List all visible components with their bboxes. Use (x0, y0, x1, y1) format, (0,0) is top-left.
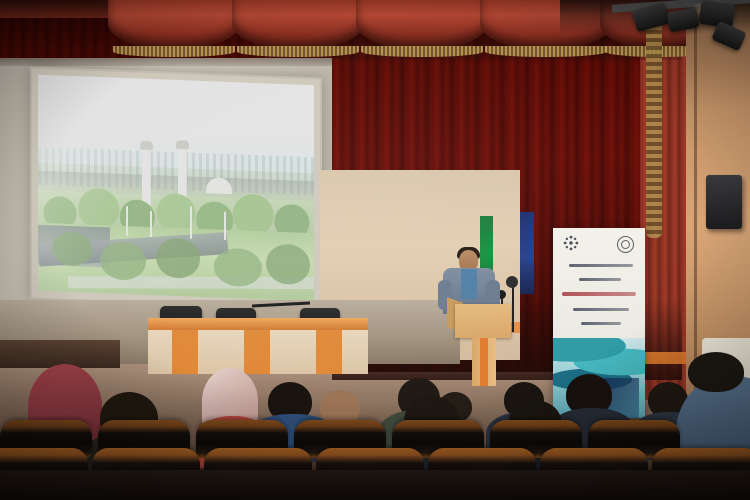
speaker-shirt (461, 269, 477, 299)
auditorium-photo: A speaker stands at a wooden podium on a… (0, 0, 750, 500)
floor-shadow (0, 470, 750, 500)
table-accent-block (316, 330, 342, 374)
banner-text-line (562, 292, 636, 296)
table-accent-block (244, 330, 270, 374)
banner-text-line (569, 264, 633, 267)
flag-blue (520, 212, 534, 294)
star-emblem-logo (563, 235, 579, 251)
banner-text-line (581, 322, 621, 325)
curtain-tassel (646, 18, 662, 238)
wall-mounted-loudspeaker (706, 175, 742, 229)
projection-screen (30, 66, 322, 310)
panel-table-front (148, 330, 368, 374)
attendee-head (688, 352, 744, 392)
banner-text-line (579, 278, 621, 281)
podium-microphone-stand (512, 282, 514, 332)
podium-desk (455, 304, 511, 338)
podium-accent-stripe (480, 338, 488, 386)
circular-emblem-logo (617, 236, 634, 253)
screen-border (30, 66, 322, 310)
podium-microphone-icon (506, 276, 518, 288)
panel-table-top (148, 318, 368, 330)
table-accent-block (172, 330, 198, 374)
banner-text-line (573, 308, 629, 311)
